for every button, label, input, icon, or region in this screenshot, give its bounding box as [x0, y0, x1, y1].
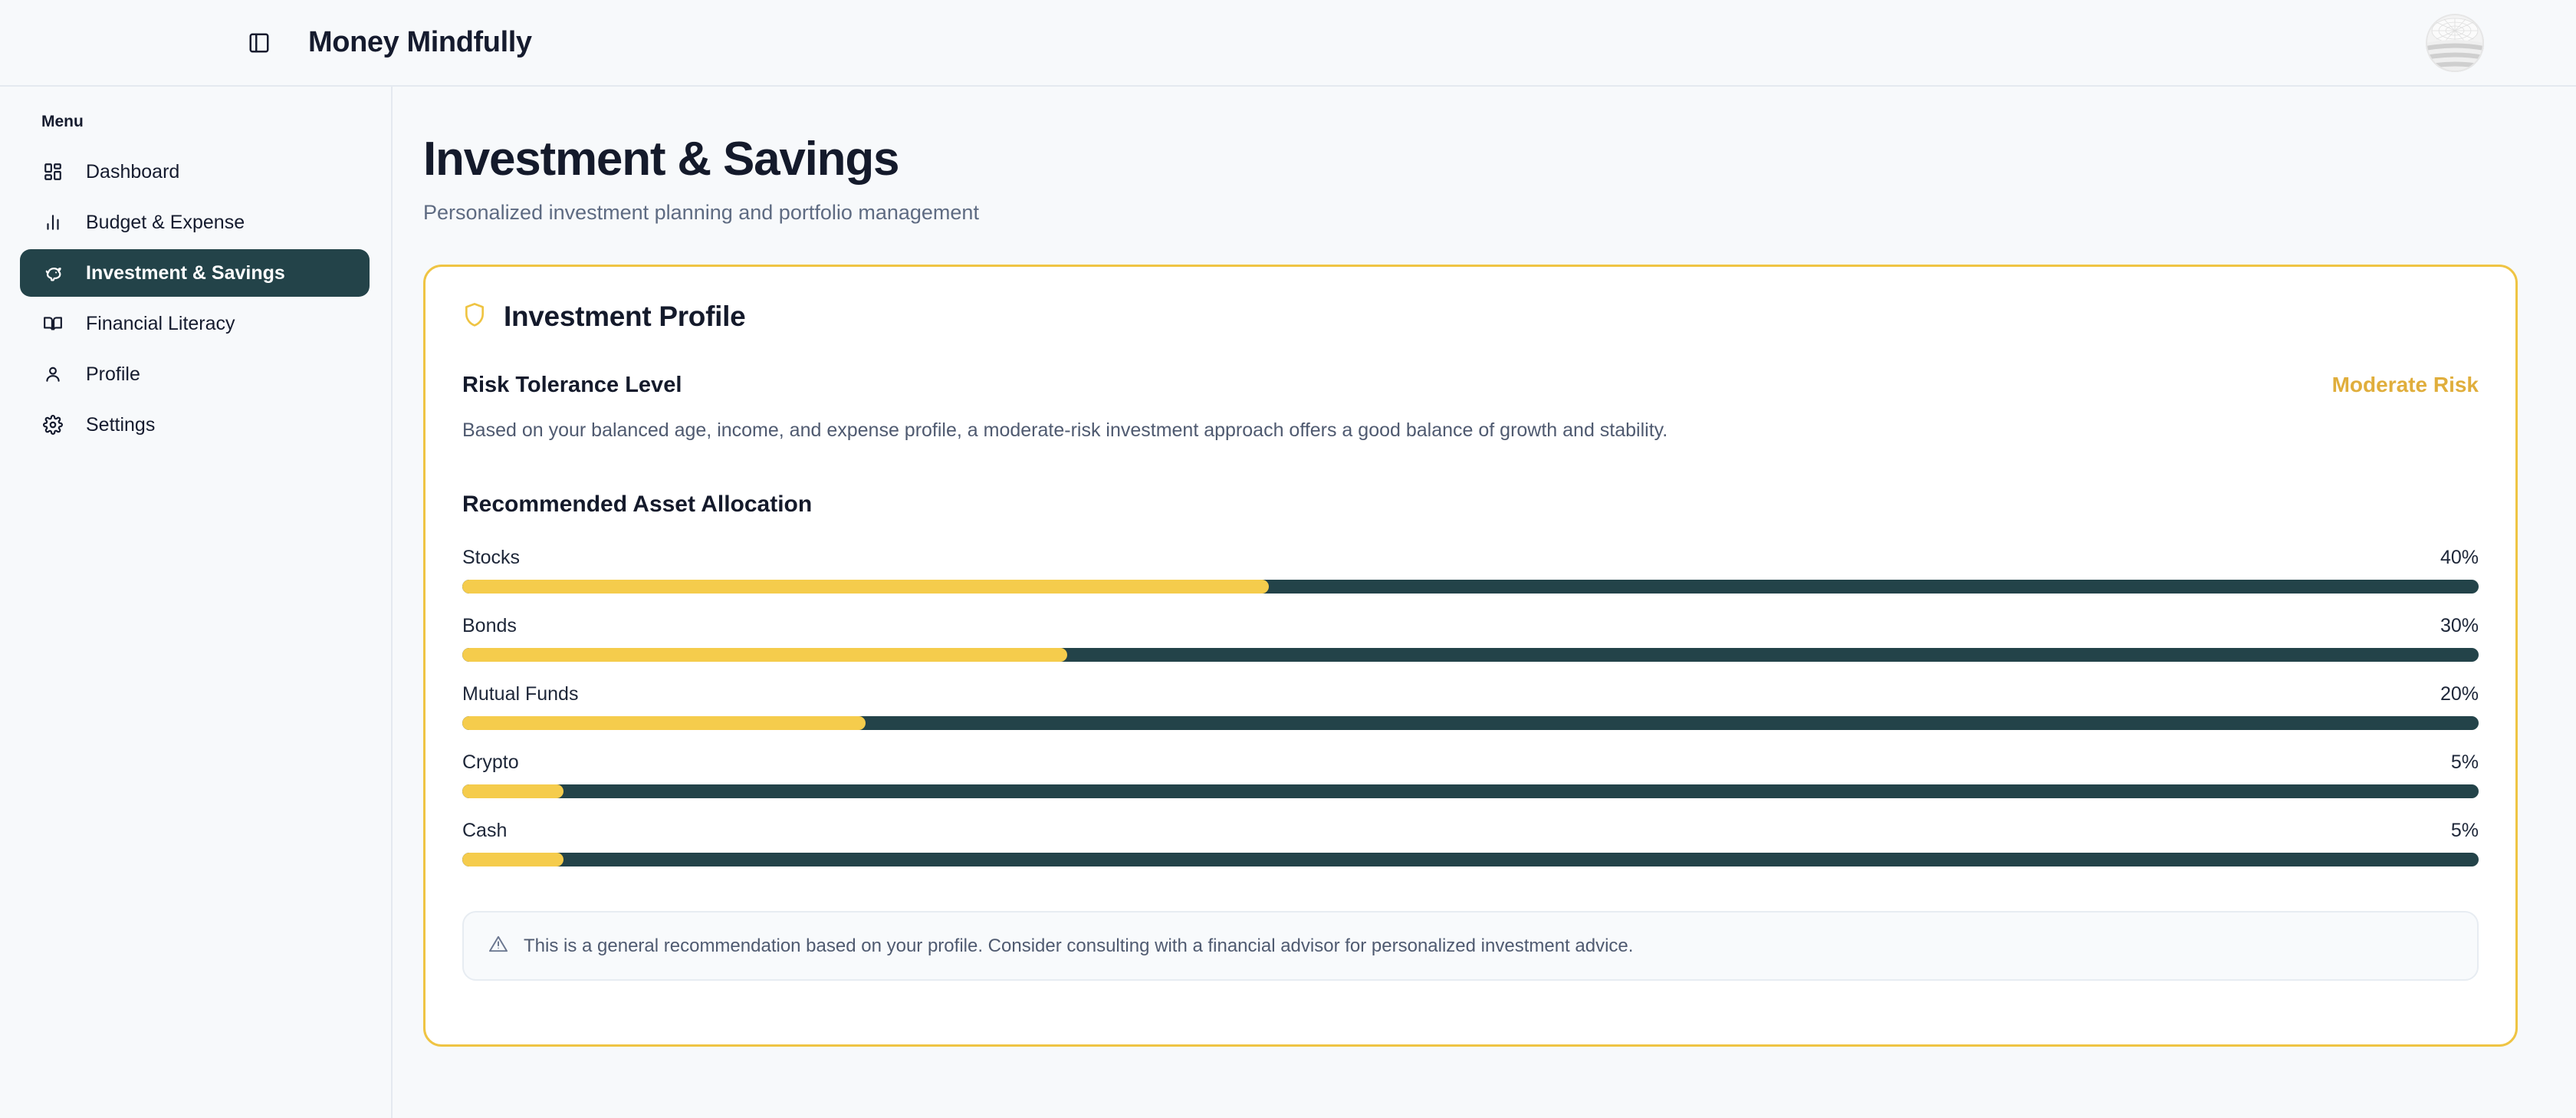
allocation-row: Stocks40% [462, 547, 2479, 594]
allocation-row-header: Cash5% [462, 820, 2479, 842]
sidebar: Menu Dashboard [0, 87, 393, 1118]
status-badge: Moderate Risk [2332, 373, 2479, 397]
page-title: Investment & Savings [423, 134, 2518, 184]
allocation-value: 40% [2440, 547, 2479, 569]
allocation-value: 5% [2451, 751, 2479, 774]
allocation-bar-fill [462, 784, 563, 798]
allocation-bar-fill [462, 716, 866, 730]
sidebar-item-profile[interactable]: Profile [20, 350, 370, 398]
allocation-value: 30% [2440, 615, 2479, 637]
bar-chart-icon [40, 209, 66, 235]
allocation-row: Crypto5% [462, 751, 2479, 798]
disclaimer-text: This is a general recommendation based o… [524, 936, 1633, 957]
allocation-value: 20% [2440, 683, 2479, 705]
allocation-bar-track [462, 716, 2479, 730]
avatar[interactable] [2426, 14, 2484, 72]
body-wrapper: Menu Dashboard [0, 87, 2576, 1118]
sidebar-item-budget-expense[interactable]: Budget & Expense [20, 199, 370, 246]
sidebar-item-investment-savings[interactable]: Investment & Savings [20, 249, 370, 297]
app-brand-title: Money Mindfully [308, 26, 532, 59]
allocation-value: 5% [2451, 820, 2479, 842]
allocation-bar-track [462, 580, 2479, 594]
sidebar-item-financial-literacy[interactable]: Financial Literacy [20, 300, 370, 347]
disclaimer-note: This is a general recommendation based o… [462, 911, 2479, 981]
allocation-row: Bonds30% [462, 615, 2479, 662]
allocation-bar-fill [462, 853, 563, 866]
layout-grid-icon [40, 159, 66, 185]
app-root: Money Mindfully [0, 0, 2576, 1118]
allocation-label: Stocks [462, 547, 520, 569]
allocation-row: Mutual Funds20% [462, 683, 2479, 730]
warning-triangle-icon [488, 934, 508, 958]
allocation-label: Cash [462, 820, 507, 842]
gear-icon [40, 412, 66, 438]
sidebar-item-label: Investment & Savings [86, 262, 285, 284]
card-header: Investment Profile [462, 301, 2479, 333]
sidebar-item-label: Budget & Expense [86, 212, 245, 234]
user-avatar-sphere-icon [2426, 14, 2484, 72]
user-icon [40, 361, 66, 387]
allocation-bar-track [462, 648, 2479, 662]
allocation-bar-track [462, 853, 2479, 866]
allocation-row-header: Bonds30% [462, 615, 2479, 637]
allocation-label: Bonds [462, 615, 517, 637]
allocation-label: Mutual Funds [462, 683, 578, 705]
sidebar-item-dashboard[interactable]: Dashboard [20, 148, 370, 196]
allocation-bar-fill [462, 648, 1067, 662]
page-subtitle: Personalized investment planning and por… [423, 201, 2518, 225]
sidebar-heading: Menu [20, 113, 370, 131]
allocation-title: Recommended Asset Allocation [462, 492, 2479, 518]
sidebar-panel-icon [248, 31, 271, 54]
sidebar-item-label: Financial Literacy [86, 313, 235, 335]
top-bar: Money Mindfully [0, 0, 2576, 87]
sidebar-item-label: Profile [86, 363, 140, 386]
allocation-bar-track [462, 784, 2479, 798]
risk-tolerance-title: Risk Tolerance Level [462, 373, 682, 398]
main-content: Investment & Savings Personalized invest… [393, 87, 2576, 1118]
sidebar-item-label: Settings [86, 414, 155, 436]
risk-tolerance-row: Risk Tolerance Level Moderate Risk [462, 373, 2479, 398]
book-open-icon [40, 311, 66, 337]
shield-icon [462, 301, 487, 333]
sidebar-item-settings[interactable]: Settings [20, 401, 370, 449]
sidebar-item-label: Dashboard [86, 161, 179, 183]
piggy-bank-icon [40, 260, 66, 286]
card-title: Investment Profile [504, 301, 745, 333]
allocation-row: Cash5% [462, 820, 2479, 866]
allocation-label: Crypto [462, 751, 519, 774]
sidebar-toggle-button[interactable] [242, 26, 276, 60]
allocation-row-header: Crypto5% [462, 751, 2479, 774]
allocation-row-header: Mutual Funds20% [462, 683, 2479, 705]
investment-profile-card: Investment Profile Risk Tolerance Level … [423, 265, 2518, 1047]
risk-description: Based on your balanced age, income, and … [462, 417, 2479, 444]
allocation-list: Stocks40%Bonds30%Mutual Funds20%Crypto5%… [462, 547, 2479, 866]
allocation-row-header: Stocks40% [462, 547, 2479, 569]
sidebar-nav: Dashboard Budget & Expense [20, 148, 370, 449]
allocation-bar-fill [462, 580, 1269, 594]
